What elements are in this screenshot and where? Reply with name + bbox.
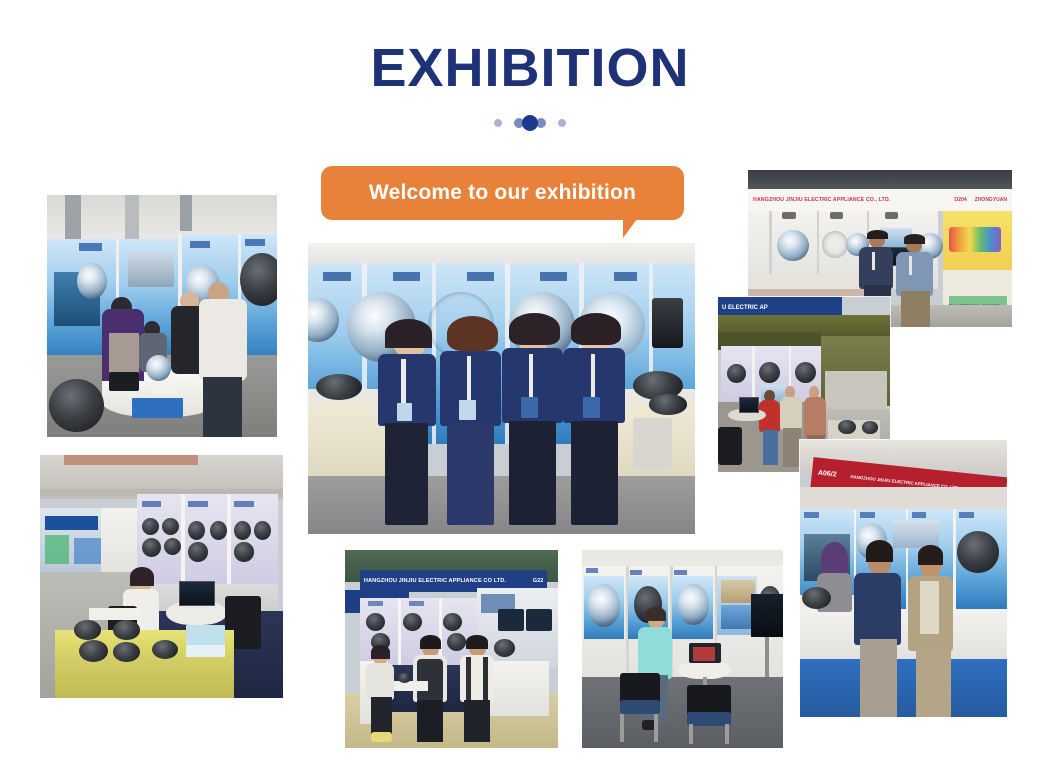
photo-top-left: [47, 195, 277, 437]
photo-main-center: [308, 243, 695, 534]
photo-bottom-right: A06/2 HANGZHOU JINJIU ELECTRIC APPLIANCE…: [800, 440, 1007, 717]
decorative-dot-row: [0, 118, 1060, 128]
dot-5-icon: [558, 119, 566, 127]
photo-bottom-center-left: HANGZHOU JINJIU ELECTRIC APPLIANCE CO LT…: [345, 550, 558, 748]
welcome-callout: Welcome to our exhibition: [321, 166, 684, 220]
dot-3-icon: [522, 115, 538, 131]
exhibition-page: EXHIBITION Welcome to our exhibition: [0, 0, 1060, 762]
neighbor-booth-label: ZHONGYUAN: [975, 197, 1007, 203]
welcome-callout-tail-icon: [623, 219, 649, 238]
booth-signage-text: HANGZHOU JINJIU ELECTRIC APPLIANCE CO., …: [753, 197, 890, 203]
booth-signage-text: U ELECTRIC AP: [722, 305, 768, 311]
booth-signage-text: HANGZHOU JINJIU ELECTRIC APPLIANCE CO LT…: [364, 578, 506, 584]
welcome-callout-label: Welcome to our exhibition: [369, 181, 636, 205]
booth-number-badge: A06/2: [818, 469, 837, 478]
booth-number-badge: D204: [954, 197, 966, 203]
booth-number-badge: G22: [533, 578, 544, 584]
booth-fascia-top-right: HANGZHOU JINJIU ELECTRIC APPLIANCE CO., …: [748, 189, 1012, 211]
photo-bottom-left: [40, 455, 283, 698]
photo-bottom-center: [582, 550, 783, 748]
dot-1-icon: [494, 119, 502, 127]
page-title: EXHIBITION: [0, 40, 1060, 97]
